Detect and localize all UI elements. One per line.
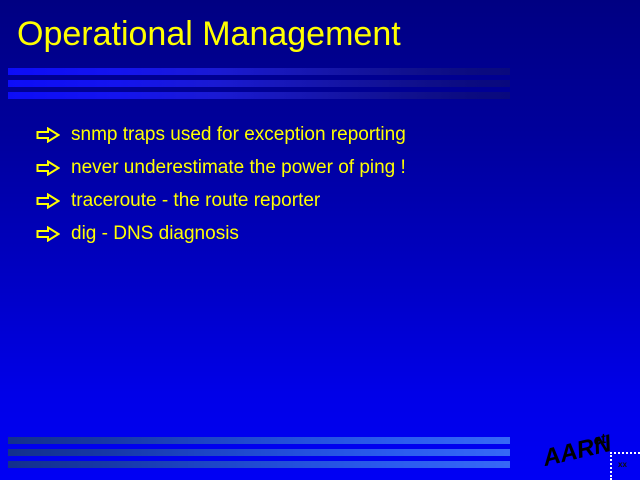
list-item[interactable]: snmp traps used for exception reporting xyxy=(36,118,596,151)
list-item[interactable]: never underestimate the power of ping ! xyxy=(36,151,596,184)
list-item-label: snmp traps used for exception reporting xyxy=(71,124,406,146)
page-number-box: xx xyxy=(610,452,640,480)
decor-bar xyxy=(8,68,510,75)
list-item[interactable]: traceroute - the route reporter xyxy=(36,184,596,217)
top-decor-bars xyxy=(8,68,510,99)
decor-bar xyxy=(8,80,510,87)
page-number: xx xyxy=(618,460,627,469)
list-item-label: dig - DNS diagnosis xyxy=(71,223,239,245)
list-item-label: never underestimate the power of ping ! xyxy=(71,157,406,179)
aarnet-logo: AARN et xyxy=(540,432,618,466)
right-arrow-outline-icon xyxy=(36,193,60,209)
decor-bar xyxy=(8,449,510,456)
page-title: Operational Management xyxy=(17,14,401,54)
decor-bar xyxy=(8,92,510,99)
list-item-label: traceroute - the route reporter xyxy=(71,190,320,212)
right-arrow-outline-icon xyxy=(36,127,60,143)
right-arrow-outline-icon xyxy=(36,226,60,242)
bullet-list: snmp traps used for exception reporting … xyxy=(36,118,596,250)
list-item[interactable]: dig - DNS diagnosis xyxy=(36,217,596,250)
bottom-decor-bars xyxy=(8,437,510,468)
slide-canvas: Operational Management snmp traps used f… xyxy=(0,0,640,480)
decor-bar xyxy=(8,437,510,444)
decor-bar xyxy=(8,461,510,468)
right-arrow-outline-icon xyxy=(36,160,60,176)
